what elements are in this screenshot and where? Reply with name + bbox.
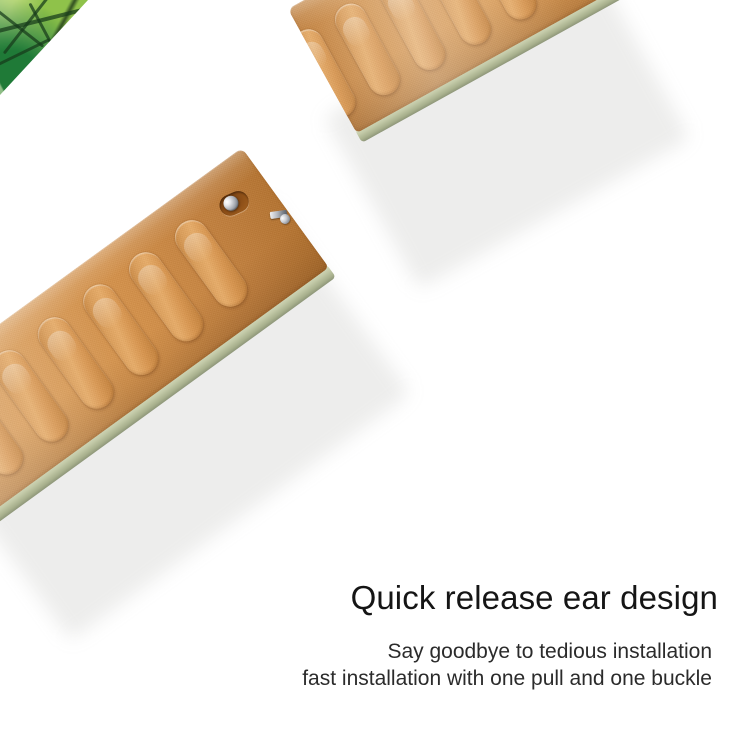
caption-subtitle-line-2: fast installation with one pull and one …	[302, 665, 712, 692]
caption-subtitle-line-1: Say goodbye to tedious installation	[302, 638, 712, 665]
caption-title: Quick release ear design	[351, 578, 718, 618]
product-image-canvas: Quick release ear design Say goodbye to …	[0, 0, 750, 750]
tropical-leaf-icon	[0, 0, 100, 105]
caption-subtitle: Say goodbye to tedious installation fast…	[302, 638, 712, 692]
